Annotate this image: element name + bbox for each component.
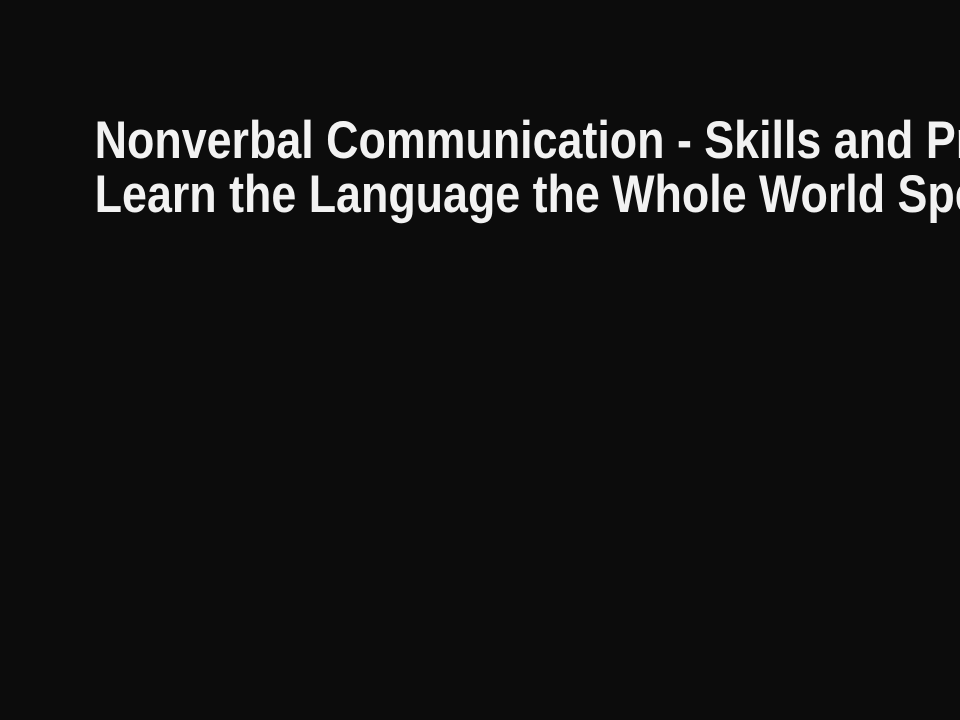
title-line-2: Learn the Language the Whole World Speak… xyxy=(95,168,866,222)
page-title: Nonverbal Communication - Skills and Pra… xyxy=(0,114,960,222)
title-card: Nonverbal Communication - Skills and Pra… xyxy=(0,0,960,720)
title-line-1: Nonverbal Communication - Skills and Pra… xyxy=(95,114,866,168)
